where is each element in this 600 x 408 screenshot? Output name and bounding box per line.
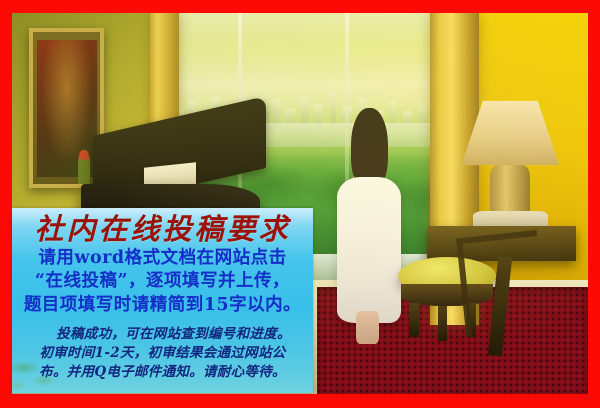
chair-frame bbox=[456, 230, 547, 337]
poster: 社内在线投稿要求 请用word格式文档在网站点击 “在线投稿”，逐项填写并上传，… bbox=[0, 0, 600, 408]
ottoman-leg bbox=[409, 303, 418, 337]
figure-legs bbox=[356, 311, 379, 344]
body-line-2: “在线投稿”，逐项填写并上传， bbox=[20, 270, 305, 293]
woman-in-white-dress bbox=[329, 108, 410, 344]
panel-body: 请用word格式文档在网站点击 “在线投稿”，逐项填写并上传， 题目项填写时请精… bbox=[18, 247, 307, 317]
note-line-2: 初审时间1-2天，初审结果会通过网站公 bbox=[18, 344, 307, 363]
body-line-3: 题目项填写时请精简到15字以内。 bbox=[20, 294, 305, 317]
note-line-1: 投稿成功，可在网站查到编号和进度。 bbox=[18, 325, 307, 344]
panel-title: 社内在线投稿要求 bbox=[18, 212, 307, 246]
rose-vase bbox=[78, 150, 90, 184]
white-dress bbox=[337, 177, 402, 323]
announcement-panel: 社内在线投稿要求 请用word格式文档在网站点击 “在线投稿”，逐项填写并上传，… bbox=[12, 208, 313, 393]
ottoman-leg bbox=[438, 306, 447, 340]
panel-note: 投稿成功，可在网站查到编号和进度。 初审时间1-2天，初审结果会通过网站公 布。… bbox=[18, 325, 307, 382]
body-line-1: 请用word格式文档在网站点击 bbox=[20, 247, 305, 270]
note-line-3: 布。并用Q电子邮件通知。请耐心等待。 bbox=[18, 363, 307, 382]
